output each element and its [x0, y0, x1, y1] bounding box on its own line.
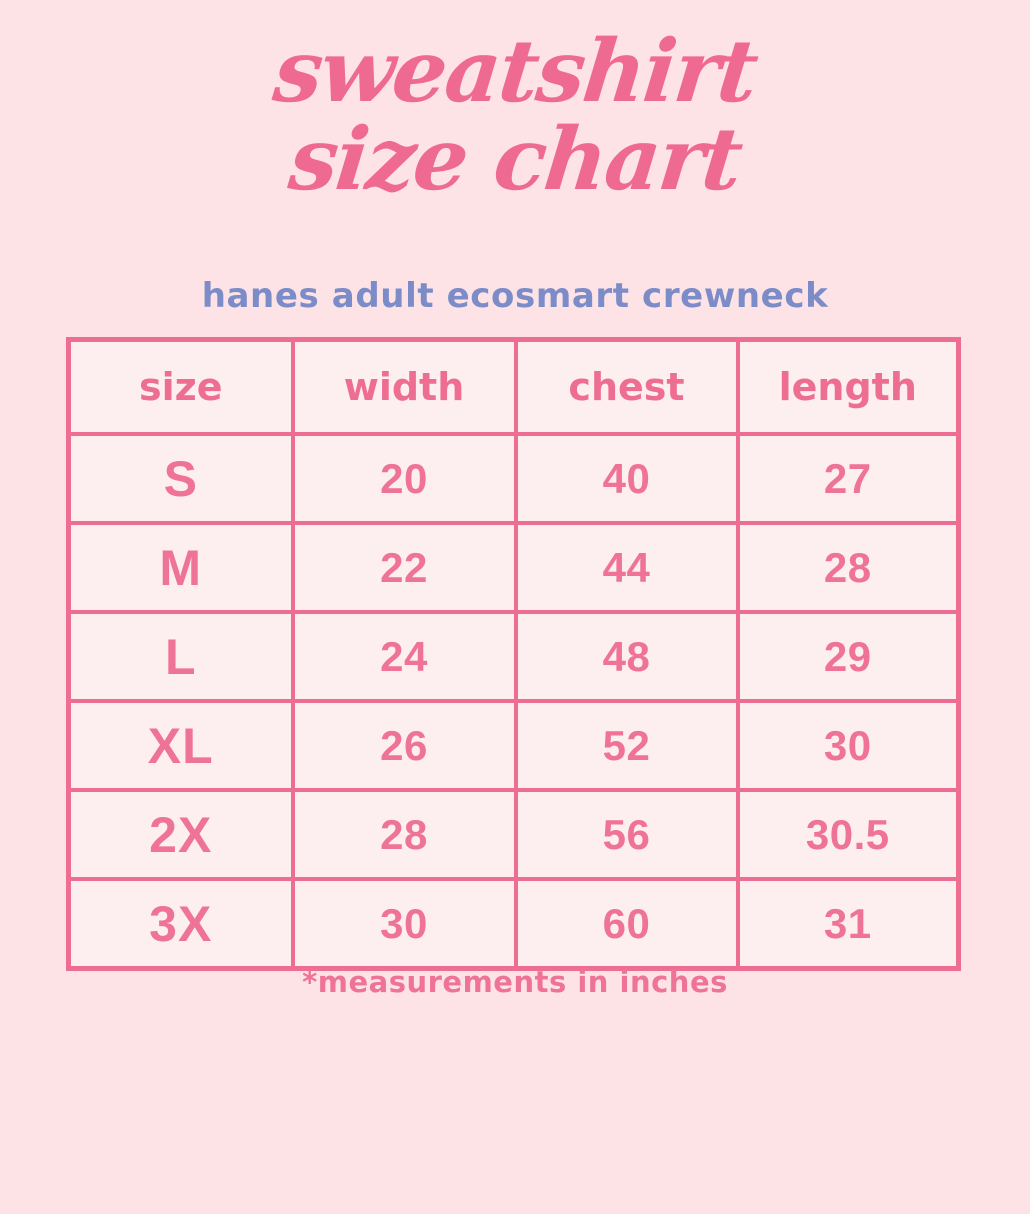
product-subtitle: hanes adult ecosmart crewneck — [0, 276, 1030, 316]
table-row: XL 26 52 30 — [69, 701, 959, 790]
page-title: sweatshirt size chart — [0, 30, 1030, 203]
cell-size: L — [69, 612, 293, 701]
cell-size: 3X — [69, 879, 293, 969]
cell-chest: 44 — [516, 523, 738, 612]
cell-length: 30 — [738, 701, 959, 790]
table-row: 3X 30 60 31 — [69, 879, 959, 969]
cell-length: 29 — [738, 612, 959, 701]
column-header-width: width — [293, 340, 516, 435]
table-row: L 24 48 29 — [69, 612, 959, 701]
cell-chest: 40 — [516, 434, 738, 523]
table-header-row: size width chest length — [69, 340, 959, 435]
cell-width: 28 — [293, 790, 516, 879]
table-row: S 20 40 27 — [69, 434, 959, 523]
cell-chest: 56 — [516, 790, 738, 879]
cell-width: 24 — [293, 612, 516, 701]
size-chart-page: sweatshirt size chart hanes adult ecosma… — [0, 0, 1030, 1214]
cell-size: M — [69, 523, 293, 612]
table-row: 2X 28 56 30.5 — [69, 790, 959, 879]
cell-length: 27 — [738, 434, 959, 523]
title-line-1: sweatshirt — [0, 30, 1030, 114]
cell-length: 31 — [738, 879, 959, 969]
cell-size: S — [69, 434, 293, 523]
measurement-note: *measurements in inches — [0, 965, 1030, 999]
cell-width: 30 — [293, 879, 516, 969]
column-header-size: size — [69, 340, 293, 435]
column-header-length: length — [738, 340, 959, 435]
size-chart-table: size width chest length S 20 40 27 M 22 … — [66, 337, 961, 971]
cell-length: 28 — [738, 523, 959, 612]
cell-size: XL — [69, 701, 293, 790]
cell-width: 22 — [293, 523, 516, 612]
cell-size: 2X — [69, 790, 293, 879]
cell-width: 26 — [293, 701, 516, 790]
cell-chest: 52 — [516, 701, 738, 790]
cell-chest: 60 — [516, 879, 738, 969]
cell-width: 20 — [293, 434, 516, 523]
title-line-2: size chart — [0, 118, 1030, 202]
cell-chest: 48 — [516, 612, 738, 701]
table-row: M 22 44 28 — [69, 523, 959, 612]
cell-length: 30.5 — [738, 790, 959, 879]
column-header-chest: chest — [516, 340, 738, 435]
